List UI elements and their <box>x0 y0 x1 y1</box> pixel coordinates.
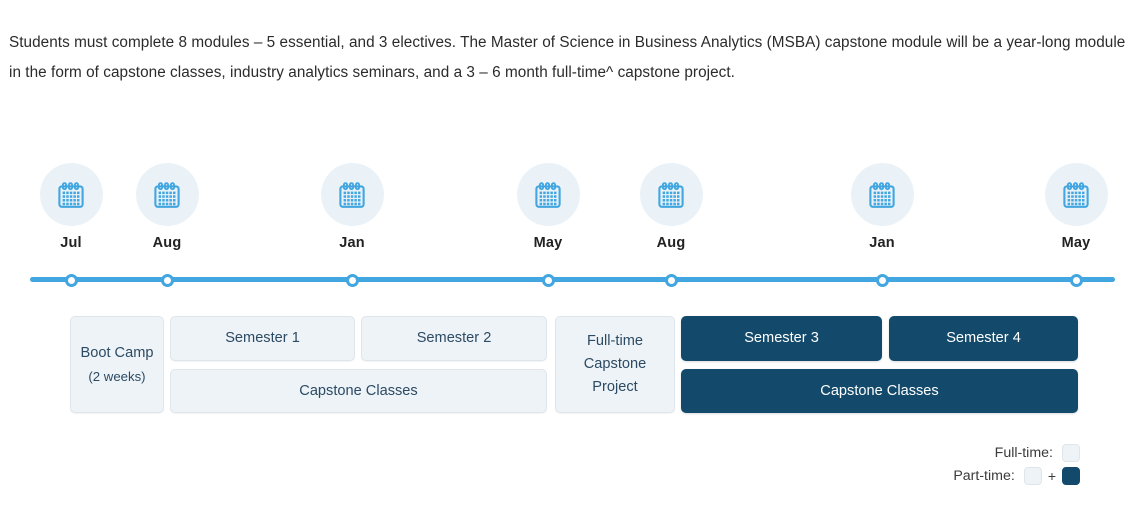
gantt-bar-semester-4: Semester 4 <box>889 316 1078 361</box>
timeline-node-dot <box>65 274 78 287</box>
legend-row-full-time: Full-time: <box>953 441 1080 464</box>
milestone-label: Aug <box>611 235 731 251</box>
timeline-milestone-jan-2: Jan <box>292 163 412 251</box>
timeline-node-dot <box>1070 274 1083 287</box>
gantt-bar-label: Capstone Classes <box>299 383 417 399</box>
gantt-bar-text: Capstone Classes <box>299 380 417 403</box>
gantt-bar-text: Capstone Classes <box>820 380 938 403</box>
gantt-bar-label: Semester 4 <box>946 330 1021 346</box>
calendar-icon <box>640 163 703 226</box>
gantt-bar-text: Full-time Capstone Project <box>560 330 670 399</box>
legend-swatch-dark <box>1062 467 1080 485</box>
gantt-bar-semester-1: Semester 1 <box>170 316 355 361</box>
gantt-bar-text: Semester 2 <box>417 327 492 350</box>
gantt-bar-label: Semester 2 <box>417 330 492 346</box>
gantt-bar-capstone-classes: Capstone Classes <box>170 369 547 413</box>
gantt-bar-text: Boot Camp(2 weeks) <box>80 342 153 388</box>
milestone-label: Jan <box>822 235 942 251</box>
gantt-bar-label: Full-time Capstone Project <box>584 333 646 395</box>
gantt-bar-semester-3: Semester 3 <box>681 316 882 361</box>
calendar-icon <box>40 163 103 226</box>
gantt-bar-text: Semester 4 <box>946 327 1021 350</box>
milestone-label: May <box>1016 235 1136 251</box>
intro-paragraph: Students must complete 8 modules – 5 ess… <box>9 28 1137 88</box>
gantt-bar-label: Capstone Classes <box>820 383 938 399</box>
timeline-milestones: JulAugJanMayAugJanMay <box>0 163 1138 263</box>
legend-swatch-light <box>1024 467 1042 485</box>
timeline-node-dot <box>346 274 359 287</box>
gantt-bars: Boot Camp(2 weeks)Semester 1Semester 2Fu… <box>0 316 1138 420</box>
calendar-icon <box>321 163 384 226</box>
calendar-icon <box>1045 163 1108 226</box>
timeline-node-dot <box>161 274 174 287</box>
legend-label: Part-time: <box>953 468 1015 484</box>
gantt-bar-semester-2: Semester 2 <box>361 316 547 361</box>
gantt-bar-capstone-classes: Capstone Classes <box>681 369 1078 413</box>
gantt-bar-boot-camp: Boot Camp(2 weeks) <box>70 316 164 413</box>
gantt-bar-label: Boot Camp <box>80 345 153 361</box>
legend-label: Full-time: <box>995 445 1053 461</box>
legend-row-part-time: Part-time:+ <box>953 464 1080 487</box>
gantt-bar-text: Semester 1 <box>225 327 300 350</box>
legend-plus-symbol: + <box>1048 468 1056 484</box>
timeline-node-dot <box>665 274 678 287</box>
gantt-bar-full-time-capstone-project: Full-time Capstone Project <box>555 316 675 413</box>
milestone-label: Aug <box>107 235 227 251</box>
milestone-label: Jan <box>292 235 412 251</box>
timeline-milestone-may-6: May <box>1016 163 1136 251</box>
timeline-milestone-jan-5: Jan <box>822 163 942 251</box>
gantt-bar-sublabel: (2 weeks) <box>80 365 153 388</box>
timeline-axis <box>30 277 1115 282</box>
calendar-icon <box>851 163 914 226</box>
timeline-milestone-aug-1: Aug <box>107 163 227 251</box>
timeline-node-dot <box>542 274 555 287</box>
legend: Full-time:Part-time:+ <box>953 441 1080 487</box>
gantt-bar-text: Semester 3 <box>744 327 819 350</box>
milestone-label: May <box>488 235 608 251</box>
gantt-bar-label: Semester 1 <box>225 330 300 346</box>
timeline-milestone-may-3: May <box>488 163 608 251</box>
timeline-milestone-aug-4: Aug <box>611 163 731 251</box>
gantt-bar-label: Semester 3 <box>744 330 819 346</box>
timeline-node-dot <box>876 274 889 287</box>
calendar-icon <box>517 163 580 226</box>
calendar-icon <box>136 163 199 226</box>
legend-swatch-light <box>1062 444 1080 462</box>
